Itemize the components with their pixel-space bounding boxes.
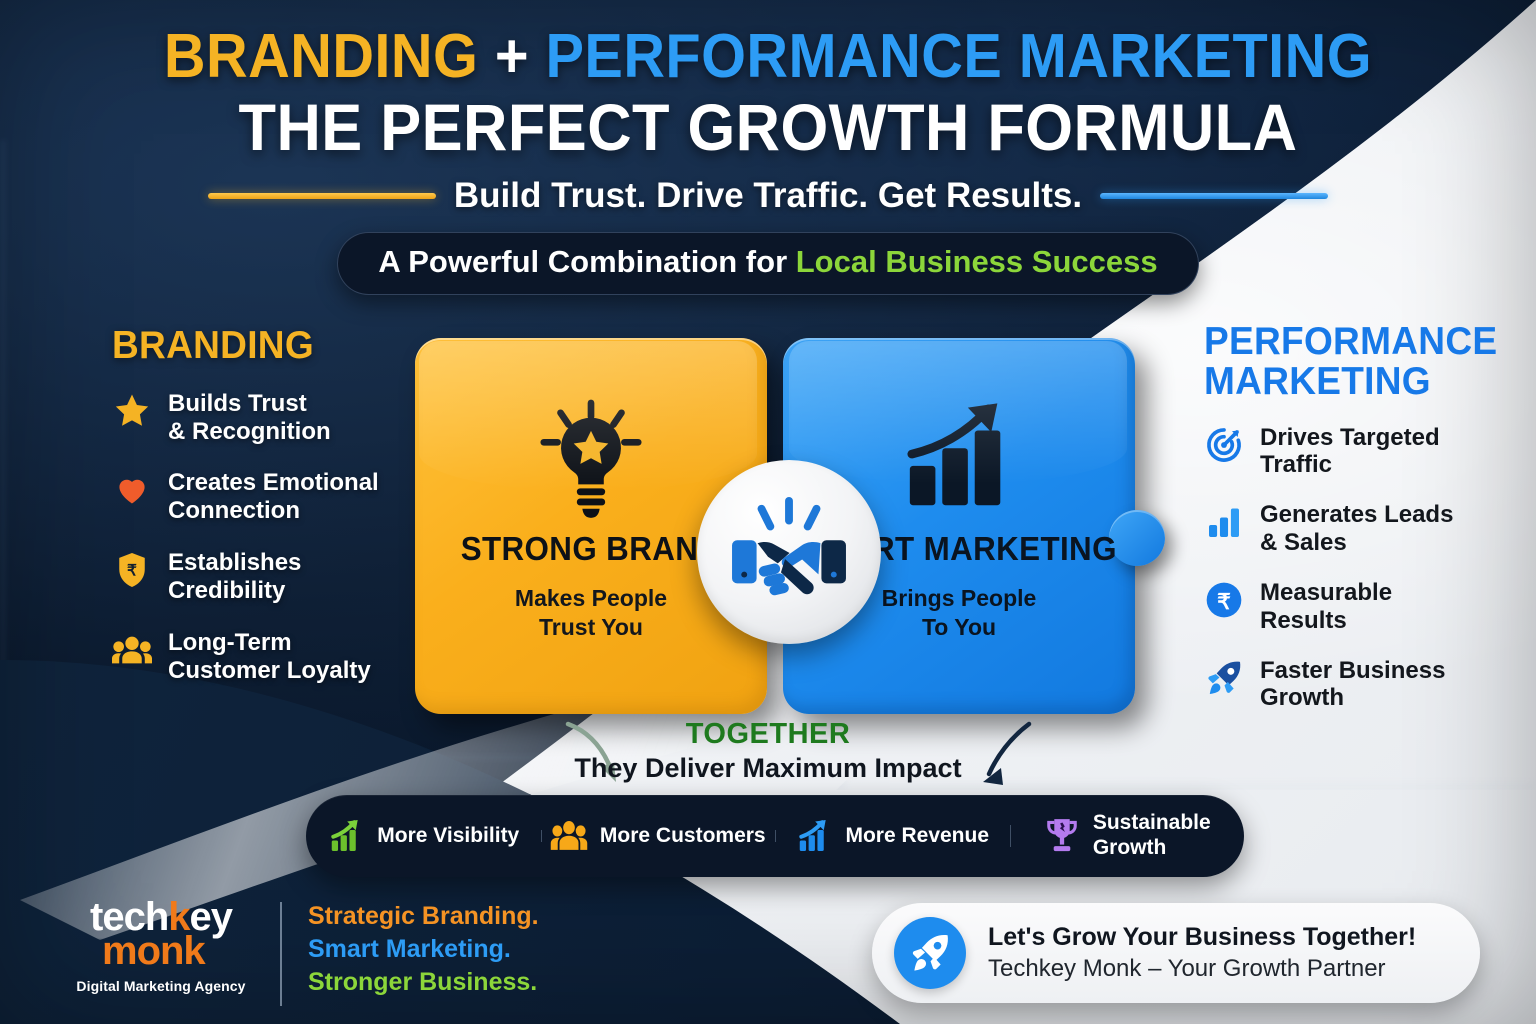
logo-ey: ey <box>190 895 233 939</box>
cta-subtitle: Techkey Monk – Your Growth Partner <box>988 955 1416 983</box>
benefits-bar: More Visibility More Customers <box>306 795 1244 877</box>
branding-feature-label: Long-Term Customer Loyalty <box>168 629 371 685</box>
page-title-line2: THE PERFECT GROWTH FORMULA <box>54 94 1482 160</box>
puzzle-group: STRONG BRAND Makes People Trust You <box>405 330 1185 730</box>
logo-tagline: Digital Marketing Agency <box>68 978 254 994</box>
logo-k: k <box>168 895 189 939</box>
feature-line2: Connection <box>168 497 379 525</box>
footer-tagline-2: Smart Marketing. <box>308 933 539 966</box>
branding-feature-label: Builds Trust & Recognition <box>168 390 331 446</box>
benefit-line1: Sustainable <box>1093 811 1211 836</box>
company-logo: techkey monk Digital Marketing Agency <box>68 898 254 994</box>
growth-chart-blue-icon <box>795 816 833 856</box>
rupee-circle-icon: ₹ <box>1204 579 1244 621</box>
feature-line2: Customer Loyalty <box>168 657 371 685</box>
performance-feature-faster-growth: Faster Business Growth <box>1204 657 1524 713</box>
performance-feature-targeted-traffic: Drives Targeted Traffic <box>1204 424 1524 480</box>
footer-tagline-3: Stronger Business. <box>308 966 539 999</box>
performance-feature-measurable-results: ₹ Measurable Results <box>1204 579 1524 635</box>
cta-banner[interactable]: Let's Grow Your Business Together! Techk… <box>872 903 1480 1003</box>
shield-rupee-icon: ₹ <box>112 549 152 591</box>
feature-line1: Drives Targeted <box>1260 424 1440 452</box>
growth-chart-green-icon <box>327 816 365 856</box>
header: BRANDING + PERFORMANCE MARKETING THE PER… <box>0 0 1536 295</box>
feature-line2: Growth <box>1260 684 1445 712</box>
feature-line1: Creates Emotional <box>168 469 379 497</box>
tagline-pill: A Powerful Combination for Local Busines… <box>337 232 1198 295</box>
feature-line1: Measurable <box>1260 579 1392 607</box>
performance-feature-label: Faster Business Growth <box>1260 657 1445 713</box>
feature-line1: Establishes <box>168 549 301 577</box>
handshake-icon <box>697 460 881 644</box>
star-icon <box>112 390 152 432</box>
rocket-icon <box>894 917 966 989</box>
people-group-icon <box>550 816 588 856</box>
benefit-line2: Growth <box>1093 836 1211 861</box>
title-branding: BRANDING <box>164 22 478 91</box>
puzzle-left-sub-line2: Trust You <box>415 613 767 642</box>
together-subtitle: They Deliver Maximum Impact <box>0 753 1536 784</box>
performance-feature-label: Generates Leads & Sales <box>1260 501 1453 557</box>
tagline-pill-wrap: A Powerful Combination for Local Busines… <box>0 232 1536 295</box>
performance-feature-label: Measurable Results <box>1260 579 1392 635</box>
tagline-pill-prefix: A Powerful Combination for <box>378 244 795 279</box>
benefit-more-revenue: More Revenue <box>775 816 1010 856</box>
subtitle-row: Build Trust. Drive Traffic. Get Results. <box>0 176 1536 216</box>
feature-line1: Long-Term <box>168 629 371 657</box>
together-title: TOGETHER <box>0 718 1536 751</box>
rule-gold <box>208 193 436 199</box>
branding-feature-label: Creates Emotional Connection <box>168 469 379 525</box>
footer-divider <box>280 902 282 1006</box>
benefit-line1: More Visibility <box>377 824 519 849</box>
benefit-label: Sustainable Growth <box>1093 811 1211 861</box>
benefit-line1: More Customers <box>600 824 766 849</box>
performance-heading-line2: MARKETING <box>1204 362 1508 402</box>
title-performance-marketing: PERFORMANCE MARKETING <box>545 22 1372 91</box>
feature-line1: Generates Leads <box>1260 501 1453 529</box>
svg-text:₹: ₹ <box>1217 589 1231 614</box>
performance-heading-line1: PERFORMANCE <box>1204 322 1508 362</box>
feature-line1: Faster Business <box>1260 657 1445 685</box>
people-icon <box>112 629 152 671</box>
title-plus: + <box>495 22 529 91</box>
feature-line2: Credibility <box>168 577 301 605</box>
benefit-label: More Visibility <box>377 824 519 849</box>
feature-line2: Results <box>1260 607 1392 635</box>
performance-feature-generates-leads: Generates Leads & Sales <box>1204 501 1524 557</box>
benefit-label: More Customers <box>600 824 766 849</box>
feature-line1: Builds Trust <box>168 390 331 418</box>
rocket-icon <box>1204 657 1244 699</box>
performance-heading: PERFORMANCE MARKETING <box>1204 322 1508 402</box>
subtitle: Build Trust. Drive Traffic. Get Results. <box>454 176 1082 216</box>
feature-line2: & Sales <box>1260 529 1453 557</box>
cta-title: Let's Grow Your Business Together! <box>988 923 1416 952</box>
performance-feature-label: Drives Targeted Traffic <box>1260 424 1440 480</box>
heart-icon <box>112 469 152 511</box>
rule-blue <box>1100 193 1328 199</box>
benefit-sustainable-growth: Sustainable Growth <box>1010 811 1245 861</box>
trophy-icon <box>1043 816 1081 856</box>
performance-column: PERFORMANCE MARKETING Drives Targeted Tr… <box>1204 322 1524 712</box>
cta-text: Let's Grow Your Business Together! Techk… <box>988 923 1416 983</box>
footer-tagline-1: Strategic Branding. <box>308 900 539 933</box>
feature-line2: Traffic <box>1260 451 1440 479</box>
target-icon <box>1204 424 1244 466</box>
tagline-pill-highlight: Local Business Success <box>796 244 1158 279</box>
logo-line-1: techkey <box>68 898 254 936</box>
footer-taglines: Strategic Branding. Smart Marketing. Str… <box>308 900 539 999</box>
page-title-line1: BRANDING + PERFORMANCE MARKETING <box>54 0 1482 88</box>
benefit-more-visibility: More Visibility <box>306 816 541 856</box>
infographic-canvas: BRANDING + PERFORMANCE MARKETING THE PER… <box>0 0 1536 1024</box>
bar-chart-icon <box>1204 501 1244 543</box>
logo-tech: tech <box>90 895 168 939</box>
svg-text:₹: ₹ <box>127 563 137 580</box>
branding-feature-label: Establishes Credibility <box>168 549 301 605</box>
benefit-label: More Revenue <box>845 824 989 849</box>
benefit-more-customers: More Customers <box>541 816 776 856</box>
benefit-line1: More Revenue <box>845 824 989 849</box>
feature-line2: & Recognition <box>168 418 331 446</box>
together-block: TOGETHER They Deliver Maximum Impact <box>0 718 1536 784</box>
branding-heading: BRANDING <box>112 326 454 366</box>
